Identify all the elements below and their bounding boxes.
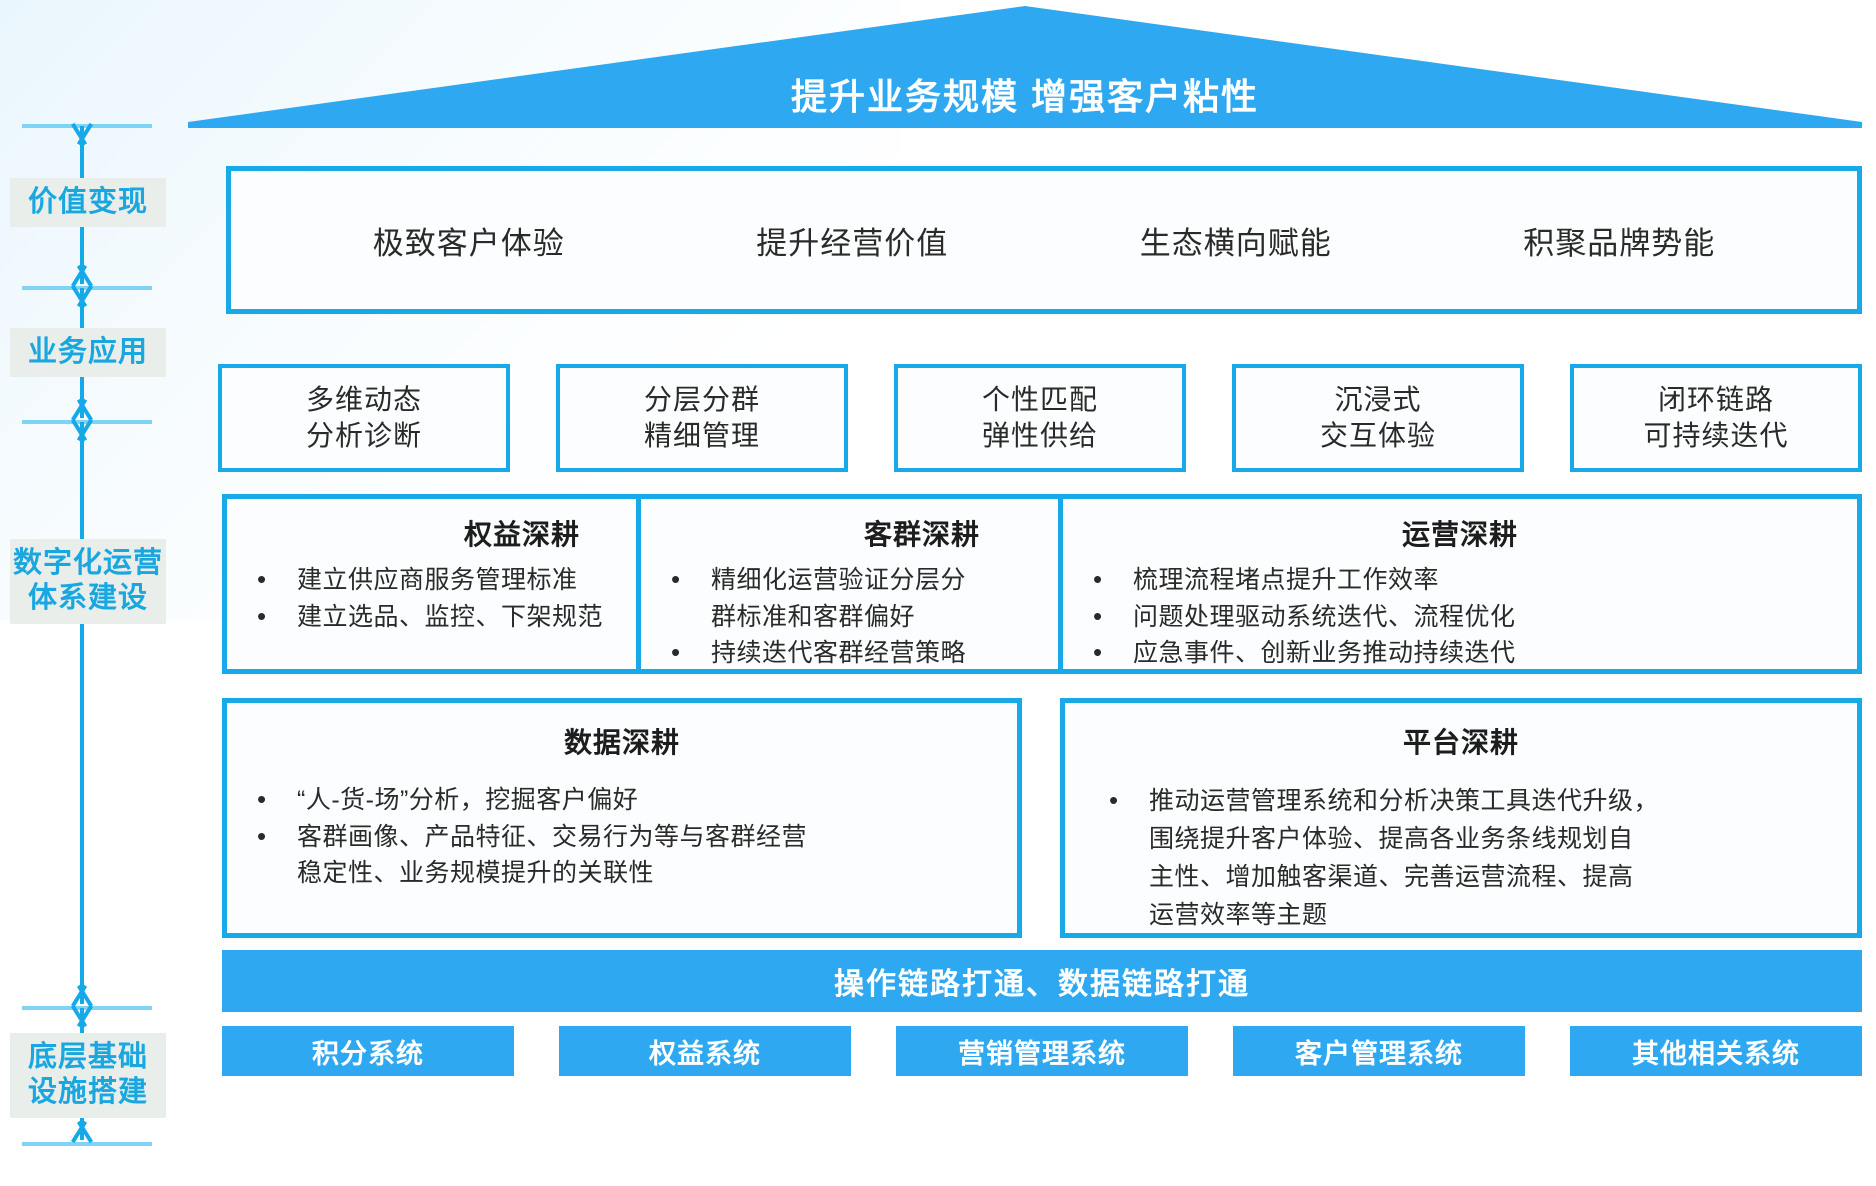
app-card-line: 弹性供给 [982, 418, 1098, 454]
rail-divider [22, 1142, 152, 1146]
arrow-up-icon [67, 421, 97, 443]
system-card-marketing[interactable]: 营销管理系统 [896, 1026, 1188, 1076]
arrow-down-icon [67, 263, 97, 285]
system-card-customer[interactable]: 客户管理系统 [1233, 1026, 1525, 1076]
bullet-item: 梳理流程堵点提升工作效率 [1085, 563, 1843, 599]
value-item: 生态横向赋能 [1140, 218, 1332, 263]
bullet-item: 推动运营管理系统和分析决策工具迭代升级， [1101, 783, 1843, 820]
app-card-line: 多维动态 [306, 382, 422, 418]
bullet-item: “人-货-场”分析，挖掘客户偏好 [249, 783, 1003, 819]
app-card-line: 精细管理 [644, 418, 760, 454]
deep-card-operations[interactable]: 运营深耕 梳理流程堵点提升工作效率 问题处理驱动系统迭代、流程优化 应急事件、创… [1058, 494, 1862, 674]
deep-card-bullets: “人-货-场”分析，挖掘客户偏好 客群画像、产品特征、交易行为等与客群经营 稳定… [227, 783, 1017, 892]
bullet-item-continuation: 围绕提升客户体验、提高各业务条线规划自 [1101, 821, 1843, 858]
business-application-row: 多维动态 分析诊断 分层分群 精细管理 个性匹配 弹性供给 沉浸式 交互体验 闭… [218, 364, 1862, 472]
rail-label-line: 设施搭建 [10, 1075, 166, 1110]
arrow-up-icon [67, 1007, 97, 1029]
arrow-up-icon [67, 287, 97, 309]
system-card-label: 积分系统 [312, 1032, 424, 1071]
system-card-rights[interactable]: 权益系统 [559, 1026, 851, 1076]
app-card-closed-loop-iteration[interactable]: 闭环链路 可持续迭代 [1570, 364, 1862, 472]
rail-label-line: 价值变现 [10, 185, 166, 220]
system-row: 积分系统 权益系统 营销管理系统 客户管理系统 其他相关系统 [222, 1026, 1862, 1076]
bullet-item-continuation: 主性、增加触客渠道、完善运营流程、提高 [1101, 859, 1843, 896]
app-card-line: 分析诊断 [306, 418, 422, 454]
arrow-down-icon [67, 1119, 97, 1141]
rail-label-business-application: 业务应用 [10, 328, 166, 377]
bullet-item: 问题处理驱动系统迭代、流程优化 [1085, 600, 1843, 636]
rail-label-line: 数字化运营 [10, 546, 166, 581]
arrow-down-icon [67, 397, 97, 419]
rail-label-digital-operations: 数字化运营 体系建设 [10, 539, 166, 624]
bullet-item: 应急事件、创新业务推动持续迭代 [1085, 636, 1843, 672]
value-item: 极致客户体验 [373, 218, 565, 263]
app-card-personalized-matching[interactable]: 个性匹配 弹性供给 [894, 364, 1186, 472]
bullet-item: 客群画像、产品特征、交易行为等与客群经营 [249, 820, 1003, 856]
stage-rail: 价值变现 业务应用 数字化运营 体系建设 底层基础 设施搭建 [0, 0, 176, 1186]
bullet-item-continuation: 运营效率等主题 [1101, 897, 1843, 934]
rail-double-arrow [80, 422, 84, 1004]
app-card-multidimensional-analysis[interactable]: 多维动态 分析诊断 [218, 364, 510, 472]
value-item: 积聚品牌势能 [1523, 218, 1715, 263]
rail-label-line: 底层基础 [10, 1040, 166, 1075]
app-card-immersive-experience[interactable]: 沉浸式 交互体验 [1232, 364, 1524, 472]
deep-card-bullets: 推动运营管理系统和分析决策工具迭代升级， 围绕提升客户体验、提高各业务条线规划自… [1065, 783, 1857, 934]
deep-card-title: 数据深耕 [227, 721, 1017, 761]
app-card-line: 分层分群 [644, 382, 760, 418]
app-card-line: 闭环链路 [1658, 382, 1774, 418]
app-card-segmentation-management[interactable]: 分层分群 精细管理 [556, 364, 848, 472]
deep-card-title: 运营深耕 [1063, 513, 1857, 553]
system-card-other[interactable]: 其他相关系统 [1570, 1026, 1862, 1076]
rail-label-line: 业务应用 [10, 335, 166, 370]
deep-card-title: 平台深耕 [1065, 721, 1857, 761]
app-card-line: 可持续迭代 [1643, 418, 1788, 454]
app-card-line: 个性匹配 [982, 382, 1098, 418]
roof-title: 提升业务规模 增强客户粘性 [188, 68, 1862, 120]
deep-card-data[interactable]: 数据深耕 “人-货-场”分析，挖掘客户偏好 客群画像、产品特征、交易行为等与客群… [222, 698, 1022, 938]
rail-label-value-realization: 价值变现 [10, 178, 166, 227]
rail-label-line: 体系建设 [10, 581, 166, 616]
arrow-up-icon [67, 125, 97, 147]
system-card-label: 其他相关系统 [1632, 1032, 1800, 1071]
system-card-label: 权益系统 [649, 1032, 761, 1071]
app-card-line: 沉浸式 [1334, 382, 1421, 418]
deep-card-bullets: 梳理流程堵点提升工作效率 问题处理驱动系统迭代、流程优化 应急事件、创新业务推动… [1063, 563, 1857, 672]
arrow-down-icon [67, 983, 97, 1005]
app-card-line: 交互体验 [1320, 418, 1436, 454]
infrastructure-banner-text: 操作链路打通、数据链路打通 [834, 959, 1250, 1003]
value-item: 提升经营价值 [756, 218, 948, 263]
roof-banner: 提升业务规模 增强客户粘性 [188, 6, 1862, 128]
rail-label-infrastructure: 底层基础 设施搭建 [10, 1033, 166, 1118]
system-card-label: 营销管理系统 [958, 1032, 1126, 1071]
system-card-label: 客户管理系统 [1295, 1032, 1463, 1071]
deep-card-platform[interactable]: 平台深耕 推动运营管理系统和分析决策工具迭代升级， 围绕提升客户体验、提高各业务… [1060, 698, 1862, 938]
system-card-points[interactable]: 积分系统 [222, 1026, 514, 1076]
bullet-item-continuation: 稳定性、业务规模提升的关联性 [249, 856, 1003, 892]
infrastructure-banner: 操作链路打通、数据链路打通 [222, 950, 1862, 1012]
value-realization-panel: 极致客户体验 提升经营价值 生态横向赋能 积聚品牌势能 [226, 166, 1862, 314]
